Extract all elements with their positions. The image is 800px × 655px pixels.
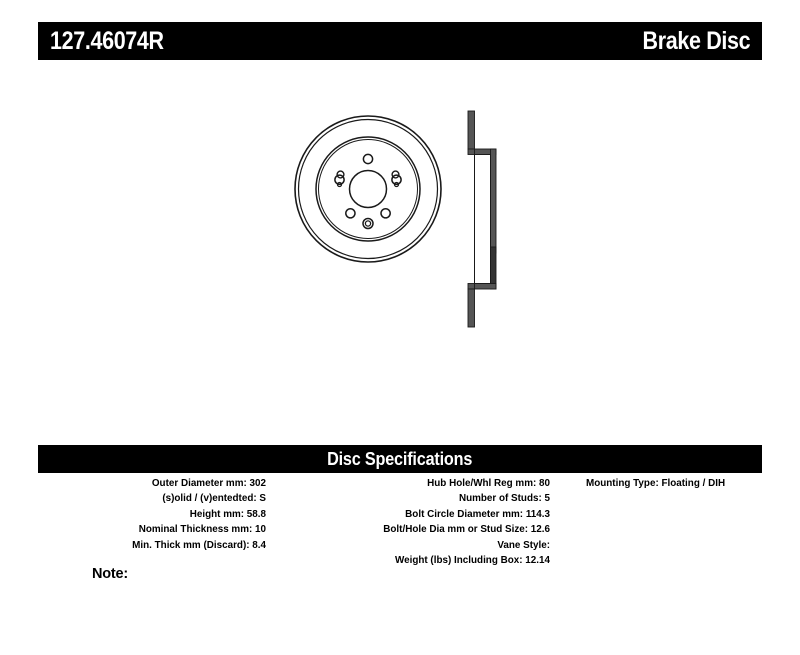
brake-disc-face-view xyxy=(295,116,441,262)
brake-disc-drawing-svg xyxy=(0,85,800,415)
lug-hole xyxy=(381,209,390,218)
hat-wall-upper xyxy=(491,149,497,253)
spec-row: (s)olid / (v)entedted: S xyxy=(52,491,266,506)
rotor-outer-edge-circle xyxy=(295,116,441,262)
spec-value: 10 xyxy=(255,523,266,535)
spec-label: Hub Hole/Whl Reg mm: xyxy=(427,477,536,489)
note-label: Note: xyxy=(92,566,128,582)
spec-value: 58.8 xyxy=(247,508,266,520)
spec-value: 80 xyxy=(539,477,550,489)
spec-value: 5 xyxy=(545,492,550,504)
lug-hole xyxy=(363,154,372,163)
spec-value: S xyxy=(259,492,266,504)
spec-row: Min. Thick mm (Discard): 8.4 xyxy=(52,538,266,553)
hat-wall-lower xyxy=(491,247,497,289)
spec-row: Bolt/Hole Dia mm or Stud Size: 12.6 xyxy=(300,522,550,537)
spec-title-bar: Disc Specifications xyxy=(38,445,762,473)
lower-braking-flange xyxy=(468,289,475,327)
lug-hole xyxy=(346,209,355,218)
spec-label: Number of Studs: xyxy=(459,492,542,504)
spec-row: Bolt Circle Diameter mm: 114.3 xyxy=(300,507,550,522)
spec-value: 12.6 xyxy=(531,523,550,535)
hub-bore-circle xyxy=(350,171,387,208)
spec-label: Mounting Type: xyxy=(586,477,659,489)
spec-row: Hub Hole/Whl Reg mm: 80 xyxy=(300,476,550,491)
header-bar: 127.46074R Brake Disc xyxy=(38,22,762,60)
spec-table: Outer Diameter mm: 302 (s)olid / (v)ente… xyxy=(38,476,762,568)
rotor-hat-outer-circle xyxy=(316,137,420,241)
spec-label: Bolt Circle Diameter mm: xyxy=(405,508,523,520)
spec-row: Outer Diameter mm: 302 xyxy=(52,476,266,491)
spec-value: 114.3 xyxy=(526,508,550,520)
spec-value: Floating / DIH xyxy=(661,477,725,489)
locating-hole-outer xyxy=(363,219,373,229)
part-number: 127.46074R xyxy=(50,27,164,56)
spec-row: Mounting Type: Floating / DIH xyxy=(586,476,751,491)
spec-label: Weight (lbs) Including Box: xyxy=(395,554,523,566)
spec-label: Outer Diameter mm: xyxy=(152,477,247,489)
spec-value: 8.4 xyxy=(252,539,266,551)
spec-label: Vane Style: xyxy=(497,539,550,551)
lower-hat-step xyxy=(468,284,496,290)
rotor-outer-inner-circle xyxy=(299,120,438,259)
note-block: Note: xyxy=(92,566,132,582)
spec-column-middle: Hub Hole/Whl Reg mm: 80 Number of Studs:… xyxy=(284,476,564,568)
upper-braking-flange xyxy=(468,111,475,149)
spec-value: 302 xyxy=(250,477,266,489)
product-type: Brake Disc xyxy=(642,27,750,56)
brake-disc-cross-section-view xyxy=(468,111,496,327)
spec-label: (s)olid / (v)entedted: xyxy=(162,492,256,504)
spec-label: Bolt/Hole Dia mm or Stud Size: xyxy=(383,523,528,535)
spec-row: Number of Studs: 5 xyxy=(300,491,550,506)
spec-row: Nominal Thickness mm: 10 xyxy=(52,522,266,537)
spec-column-left: Outer Diameter mm: 302 (s)olid / (v)ente… xyxy=(38,476,284,553)
spec-label: Nominal Thickness mm: xyxy=(139,523,253,535)
hat-interior-outline xyxy=(475,155,491,284)
spec-row: Height mm: 58.8 xyxy=(52,507,266,522)
spec-value: 12.14 xyxy=(525,554,550,566)
spec-label: Height mm: xyxy=(190,508,244,520)
spec-column-right: Mounting Type: Floating / DIH xyxy=(564,476,762,491)
spec-row: Weight (lbs) Including Box: 12.14 xyxy=(300,553,550,568)
technical-drawing xyxy=(0,85,800,415)
spec-label: Min. Thick mm (Discard): xyxy=(132,539,249,551)
spec-row: Vane Style: xyxy=(300,538,550,553)
locating-hole-inner xyxy=(365,221,370,226)
spec-title: Disc Specifications xyxy=(327,449,472,470)
